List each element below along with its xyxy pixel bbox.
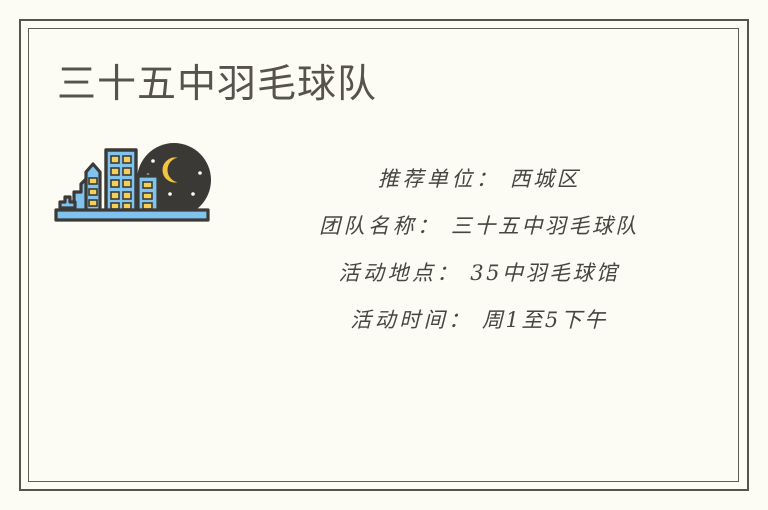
page-title: 三十五中羽毛球队	[57, 60, 377, 110]
detail-value: 35中羽毛球馆	[470, 261, 619, 285]
detail-label: 团队名称：	[319, 214, 442, 238]
detail-row-schedule: 活动时间： 周1至5下午	[228, 297, 730, 344]
city-night-skyline-icon	[52, 140, 222, 226]
detail-label: 活动时间：	[350, 308, 473, 332]
detail-value: 西城区	[510, 167, 581, 191]
team-details-list: 推荐单位： 西城区 团队名称： 三十五中羽毛球队 活动地点： 35中羽毛球馆 活…	[228, 140, 730, 344]
detail-label: 推荐单位：	[378, 167, 501, 191]
detail-value: 周1至5下午	[482, 308, 608, 332]
detail-value: 三十五中羽毛球队	[451, 214, 639, 238]
detail-row-venue: 活动地点： 35中羽毛球馆	[228, 250, 730, 297]
team-info-card: 三十五中羽毛球队	[0, 0, 768, 510]
card-content: 推荐单位： 西城区 团队名称： 三十五中羽毛球队 活动地点： 35中羽毛球馆 活…	[0, 140, 768, 344]
detail-label: 活动地点：	[339, 261, 462, 285]
detail-row-recommender: 推荐单位： 西城区	[228, 156, 730, 203]
detail-row-team-name: 团队名称： 三十五中羽毛球队	[228, 203, 730, 250]
